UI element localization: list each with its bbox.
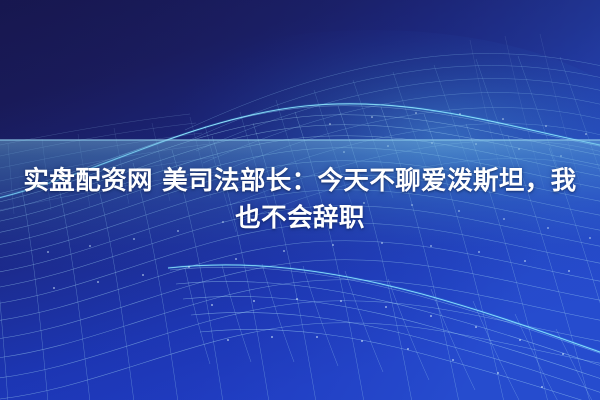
headline-backdrop-band bbox=[0, 0, 600, 400]
banner-image: 实盘配资网 美司法部长：今天不聊爱泼斯坦，我 也不会辞职 bbox=[0, 0, 600, 400]
band-fill bbox=[0, 140, 600, 270]
